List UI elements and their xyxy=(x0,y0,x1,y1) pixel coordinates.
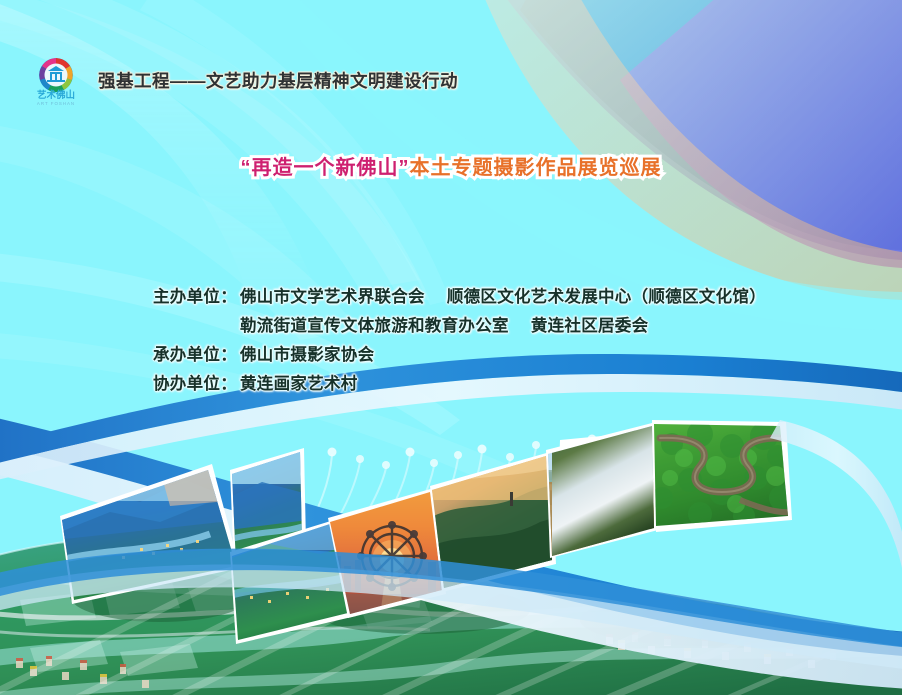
title-part-2: 本土专题摄影作品展览巡展 xyxy=(410,158,662,178)
organizer-label: 主办单位： xyxy=(140,283,240,312)
organizer-entity: 佛山市文学艺术界联合会 xyxy=(240,288,425,306)
organizer-entity: 勒流街道宣传文体旅游和教育办公室 xyxy=(240,317,509,335)
organizer-entity: 佛山市摄影家协会 xyxy=(240,346,374,364)
organizer-row: 勒流街道宣传文体旅游和教育办公室黄连社区居委会 xyxy=(140,312,902,341)
page-title: “再造一个新佛山”本土专题摄影作品展览巡展 xyxy=(0,158,902,178)
logo-caption-main: 艺术佛山 xyxy=(37,89,75,101)
organizer-entity: 黄连社区居委会 xyxy=(531,317,649,335)
organizer-label: 承办单位： xyxy=(140,341,240,370)
header: 艺术佛山 ART FOSHAN 强基工程——文艺助力基层精神文明建设行动 xyxy=(28,52,458,108)
organizer-row: 承办单位：佛山市摄影家协会 xyxy=(140,341,902,370)
organizer-entity: 顺德区文化艺术发展中心（顺德区文化馆） xyxy=(447,288,766,306)
organizer-label: 协办单位： xyxy=(140,370,240,399)
organizer-value: 佛山市文学艺术界联合会顺德区文化艺术发展中心（顺德区文化馆） xyxy=(240,283,766,312)
organizer-value: 佛山市摄影家协会 xyxy=(240,341,374,370)
organizer-label xyxy=(140,312,240,341)
organizer-value: 勒流街道宣传文体旅游和教育办公室黄连社区居委会 xyxy=(240,312,648,341)
organizer-value: 黄连画家艺术村 xyxy=(240,370,358,399)
organizer-entity: 黄连画家艺术村 xyxy=(240,375,358,393)
organizer-block: 主办单位：佛山市文学艺术界联合会顺德区文化艺术发展中心（顺德区文化馆）勒流街道宣… xyxy=(0,283,902,399)
header-title: 强基工程——文艺助力基层精神文明建设行动 xyxy=(98,68,458,93)
organizer-row: 主办单位：佛山市文学艺术界联合会顺德区文化艺术发展中心（顺德区文化馆） xyxy=(140,283,902,312)
poster-root: 艺术佛山 ART FOSHAN 强基工程——文艺助力基层精神文明建设行动 “再造… xyxy=(0,0,902,695)
logo-caption-sub: ART FOSHAN xyxy=(37,101,75,106)
foshan-art-circle-logo: 艺术佛山 ART FOSHAN xyxy=(28,52,84,108)
organizer-row: 协办单位：黄连画家艺术村 xyxy=(140,370,902,399)
title-part-1: “再造一个新佛山” xyxy=(241,158,410,178)
